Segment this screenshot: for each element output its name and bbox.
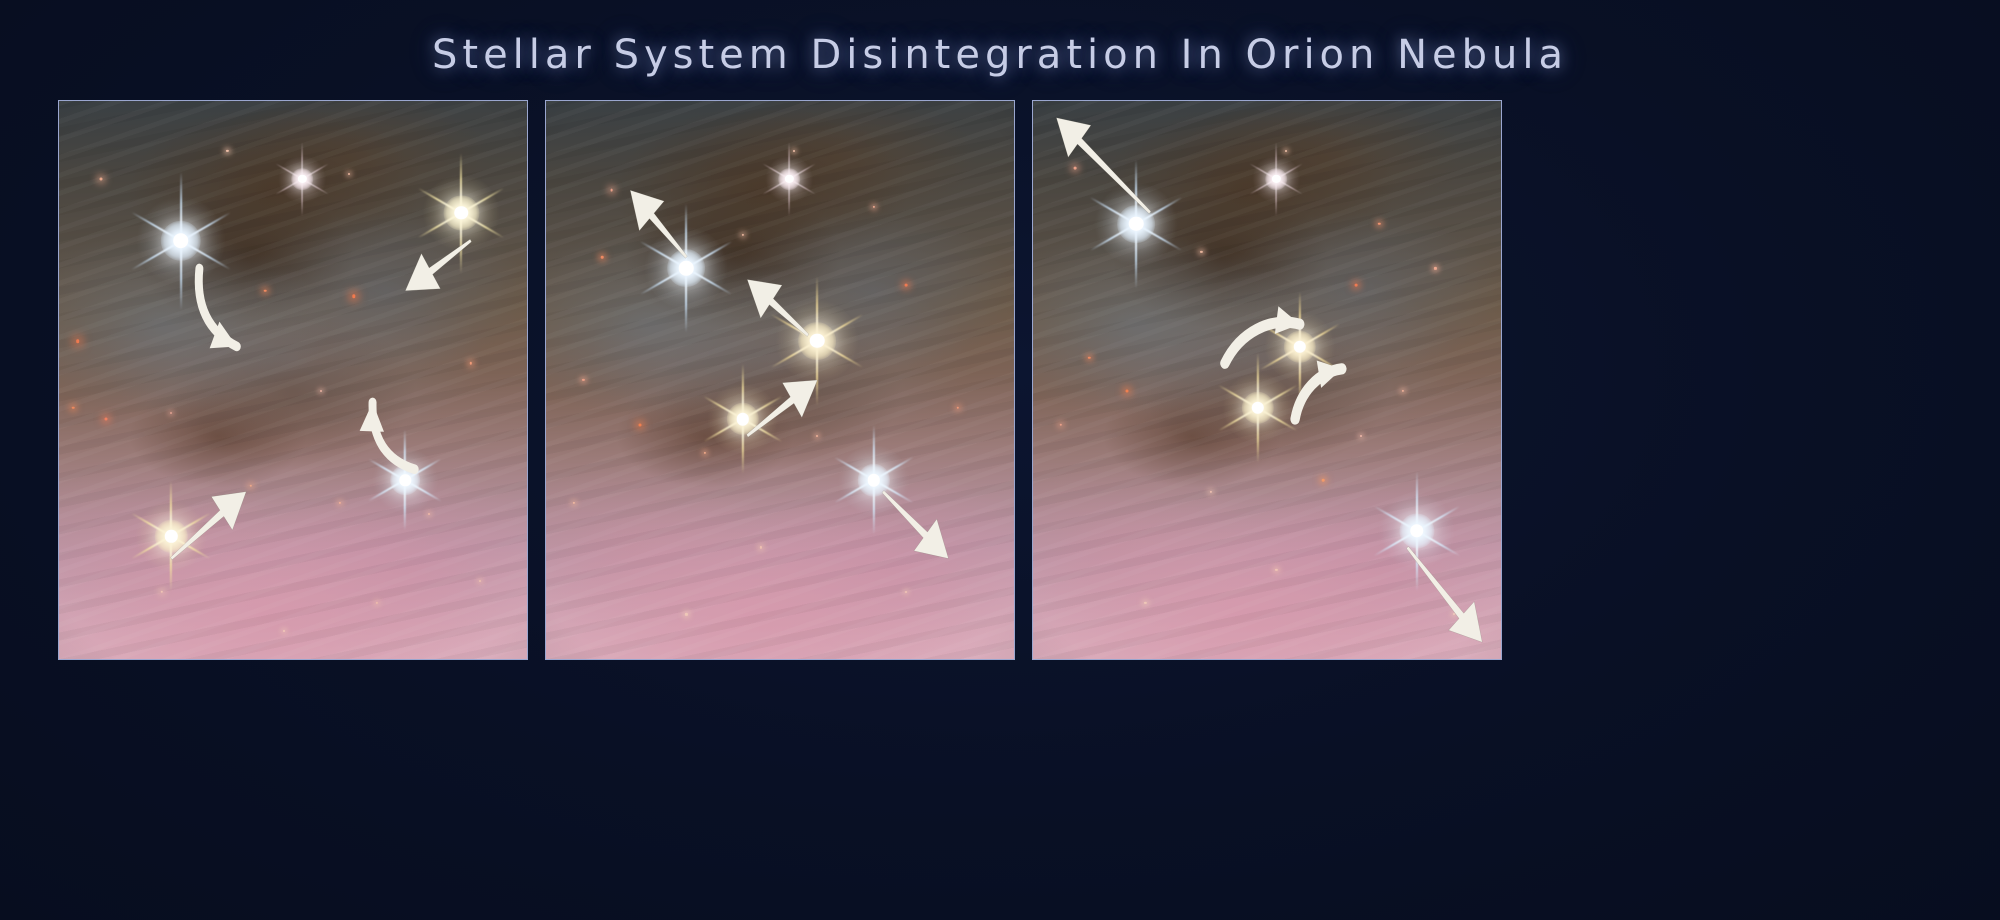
panel-3-full-disintegration: [1032, 100, 1502, 660]
motion-arrow-blue-down: [199, 268, 237, 348]
arrow-layer: [59, 101, 527, 659]
figure-root: Stellar System Disintegration In Orion N…: [0, 0, 2000, 920]
page-title: Stellar System Disintegration In Orion N…: [0, 32, 2000, 78]
motion-arrow-bluelow-upleft: [360, 402, 415, 469]
panel-1-bound-system: [58, 100, 528, 660]
motion-arrow-blue-escape-upleft: [1056, 118, 1150, 214]
arrow-layer: [546, 101, 1014, 659]
panel-2-ejection-begins: [545, 100, 1015, 660]
orbit-arrow-clockwise-bottom: [1295, 360, 1342, 419]
motion-arrow-yellowmid-upright: [747, 380, 818, 437]
arrow-layer: [1033, 101, 1501, 659]
motion-arrow-blue-upleft: [630, 190, 687, 258]
orbit-arrow-clockwise-top: [1225, 306, 1300, 363]
motion-arrow-yellow-downleft: [405, 239, 471, 291]
motion-arrow-yellowlow-upright: [171, 492, 247, 560]
motion-arrow-yellow-upleft: [747, 280, 809, 337]
motion-arrow-blue-escape-downright: [1406, 546, 1482, 642]
motion-arrow-blue-downright: [882, 490, 948, 558]
